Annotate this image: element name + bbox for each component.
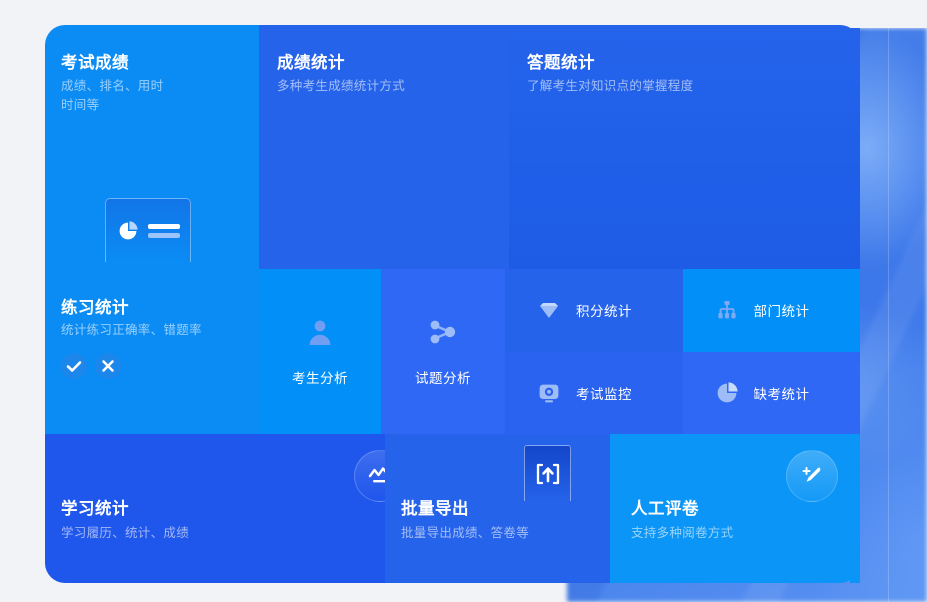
- card-subtitle: 支持多种阅卷方式: [631, 524, 733, 543]
- pen-plus-icon: [786, 450, 838, 502]
- feature-row-top: 考试成绩 成绩、排名、用时 时间等 成绩统计 多种考生成绩统计方式 A+: [45, 25, 860, 269]
- card-title: 人工评卷: [631, 495, 699, 519]
- card-title: 考试成绩: [61, 49, 129, 73]
- diamond-icon: [538, 299, 560, 321]
- upload-export-icon: [524, 445, 571, 501]
- statistics-panel: 考试成绩 成绩、排名、用时 时间等 成绩统计 多种考生成绩统计方式 A+: [45, 25, 860, 583]
- mini-card-label: 试题分析: [415, 367, 471, 387]
- background-stripe: [888, 28, 889, 602]
- mini-card-label: 考生分析: [292, 367, 348, 387]
- line-chart-circle-icon: [354, 450, 385, 502]
- quad-card-group: 积分统计 部门统计: [505, 269, 860, 434]
- card-title: 批量导出: [401, 495, 469, 519]
- card-practice-statistics[interactable]: 练习统计 统计练习正确率、错题率: [45, 269, 259, 434]
- quad-card-label: 积分统计: [576, 300, 632, 320]
- card-study-statistics[interactable]: 学习统计 学习履历、统计、成绩: [45, 434, 385, 583]
- card-answer-statistics[interactable]: 答题统计 了解考生对知识点的掌握程度: [509, 25, 860, 269]
- check-circle-icon: [59, 351, 89, 381]
- share-network-icon: [427, 317, 459, 347]
- card-subtitle: 学习履历、统计、成绩: [61, 524, 189, 543]
- card-score-statistics[interactable]: 成绩统计 多种考生成绩统计方式 A+: [259, 25, 509, 269]
- card-title: 练习统计: [61, 294, 129, 318]
- card-manual-grading[interactable]: 人工评卷 支持多种阅卷方式: [610, 434, 860, 583]
- card-batch-export[interactable]: 批量导出 批量导出成绩、答卷等: [385, 434, 610, 583]
- feature-row-bottom: 学习统计 学习履历、统计、成绩 批量导出 批量导出成绩、答卷等: [45, 434, 860, 583]
- card-subtitle: 成绩、排名、用时 时间等: [61, 77, 163, 115]
- camera-monitor-icon: [538, 382, 560, 404]
- card-title: 答题统计: [527, 49, 595, 73]
- card-question-analysis[interactable]: 试题分析: [381, 269, 505, 434]
- card-subtitle: 统计练习正确率、错题率: [61, 321, 202, 340]
- card-exam-score[interactable]: 考试成绩 成绩、排名、用时 时间等: [45, 25, 259, 269]
- card-title: 学习统计: [61, 495, 129, 519]
- card-exam-monitoring[interactable]: 考试监控: [505, 352, 683, 435]
- pie-slice-icon: [716, 382, 738, 404]
- quad-card-label: 缺考统计: [754, 383, 810, 403]
- quad-card-label: 考试监控: [576, 383, 632, 403]
- card-examinee-analysis[interactable]: 考生分析: [259, 269, 381, 434]
- feature-row-middle: 练习统计 统计练习正确率、错题率: [45, 269, 860, 434]
- card-subtitle: 批量导出成绩、答卷等: [401, 524, 529, 543]
- pie-chart-lines-icon: [105, 198, 191, 262]
- card-absence-statistics[interactable]: 缺考统计: [683, 352, 861, 435]
- quad-card-label: 部门统计: [754, 300, 810, 320]
- person-icon: [305, 317, 335, 347]
- card-department-statistics[interactable]: 部门统计: [683, 269, 861, 352]
- card-subtitle: 多种考生成绩统计方式: [277, 77, 405, 96]
- card-title: 成绩统计: [277, 49, 345, 73]
- card-subtitle: 了解考生对知识点的掌握程度: [527, 77, 693, 96]
- card-points-statistics[interactable]: 积分统计: [505, 269, 683, 352]
- practice-icon-group: [59, 351, 123, 381]
- org-chart-icon: [716, 299, 738, 321]
- x-circle-icon: [93, 351, 123, 381]
